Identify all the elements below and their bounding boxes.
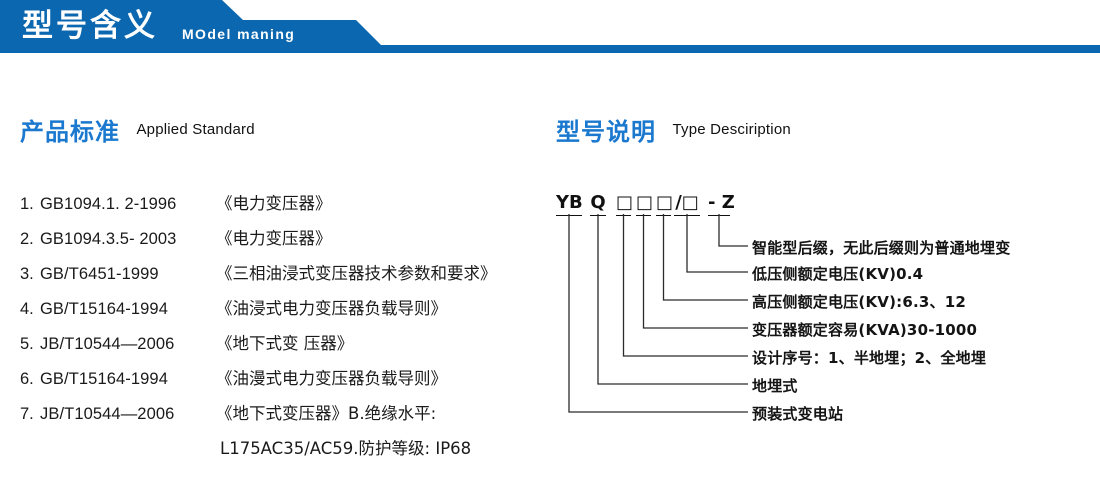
standard-item-code: JB/T10544—2006: [40, 335, 216, 354]
section-heading-type-description: 型号说明 Type Desciription: [556, 112, 791, 147]
standard-item-index: 4.: [20, 300, 40, 319]
model-label: 高压侧额定电压(KV):6.3、12: [752, 291, 966, 312]
standard-item: 5.JB/T10544—2006《地下式变 压器》: [20, 330, 550, 365]
standard-item: 6.GB/T15164-1994《油漫式电力变压器负载导则》: [20, 365, 550, 400]
standard-item-continuation: L175AC35/AC59.防护等级: IP68: [20, 435, 550, 473]
section-heading-type-en: Type Desciription: [672, 121, 790, 138]
section-heading-standard-zh: 产品标准: [20, 118, 120, 146]
model-code-segment: □: [616, 192, 631, 216]
banner-shape: [0, 0, 1100, 56]
model-label: 智能型后缀，无此后缀则为普通地埋变: [752, 237, 1010, 258]
leader-line: [664, 214, 749, 300]
standard-item: 4.GB/T15164-1994《油浸式电力变压器负载导则》: [20, 295, 550, 330]
section-heading-type-zh: 型号说明: [556, 118, 656, 146]
model-code-segment: - Z: [708, 192, 730, 216]
model-code-segment: □: [636, 192, 651, 216]
banner-title-en: MOdel maning: [182, 25, 295, 43]
page-header-banner: 型号含义 MOdel maning: [0, 0, 1100, 56]
model-code-diagram: YBQ□□□/□- Z 智能型后缀，无此后缀则为普通地埋变低压侧额定电压(KV)…: [556, 190, 1096, 440]
banner-title-zh: 型号含义: [22, 7, 158, 45]
standard-item: 7.JB/T10544—2006《地下式变压器》B.绝缘水平:: [20, 400, 550, 435]
model-code-segment: /□: [674, 192, 700, 216]
standard-item-index: 2.: [20, 230, 40, 249]
standard-item-code: GB1094.1. 2-1996: [40, 195, 216, 214]
leader-line: [644, 214, 749, 328]
leader-line: [687, 214, 748, 272]
standard-item-title: 《地下式变 压器》: [216, 330, 353, 354]
model-label: 变压器额定容易(KVA)30-1000: [752, 319, 977, 340]
standard-item-index: 5.: [20, 335, 40, 354]
model-code-segment: Q: [590, 192, 606, 216]
standard-item-code: GB1094.3.5- 2003: [40, 230, 216, 249]
standard-item-code: JB/T10544—2006: [40, 405, 216, 424]
model-label: 预装式变电站: [752, 403, 843, 424]
standard-item-code: GB/T15164-1994: [40, 300, 216, 319]
standard-item: 3.GB/T6451-1999《三相油浸式变压器技术参数和要求》: [20, 260, 550, 295]
leader-line: [598, 214, 748, 384]
standard-item: 2.GB1094.3.5- 2003《电力变压器》: [20, 225, 550, 260]
model-label: 低压侧额定电压(KV)0.4: [752, 263, 923, 284]
model-code-segment: □: [656, 192, 671, 216]
leader-line: [624, 214, 749, 356]
standard-item-title: 《电力变压器》: [216, 190, 332, 214]
standard-item-title: 《地下式变压器》B.绝缘水平:: [216, 400, 436, 424]
standard-item-index: 3.: [20, 265, 40, 284]
section-heading-standard-en: Applied Standard: [136, 121, 254, 138]
standard-item-index: 1.: [20, 195, 40, 214]
leader-line: [719, 214, 748, 246]
standard-item: 1.GB1094.1. 2-1996《电力变压器》: [20, 190, 550, 225]
model-label: 地埋式: [752, 375, 798, 396]
standard-item-index: 7.: [20, 405, 40, 424]
standard-item-code: GB/T15164-1994: [40, 370, 216, 389]
standard-item-code: GB/T6451-1999: [40, 265, 216, 284]
standard-item-title: 《油漫式电力变压器负载导则》: [216, 365, 447, 389]
section-heading-applied-standard: 产品标准 Applied Standard: [20, 112, 255, 147]
standards-list: 1.GB1094.1. 2-1996《电力变压器》2.GB1094.3.5- 2…: [20, 190, 550, 473]
standard-item-index: 6.: [20, 370, 40, 389]
model-code-segment: YB: [556, 192, 582, 216]
leader-line: [569, 214, 748, 412]
standard-item-title: 《三相油浸式变压器技术参数和要求》: [216, 260, 497, 284]
standard-item-title: 《油浸式电力变压器负载导则》: [216, 295, 447, 319]
standard-item-continuation-text: L175AC35/AC59.防护等级: IP68: [216, 435, 471, 459]
standard-item-title: 《电力变压器》: [216, 225, 332, 249]
model-label: 设计序号：1、半地埋；2、全地埋: [752, 347, 986, 368]
